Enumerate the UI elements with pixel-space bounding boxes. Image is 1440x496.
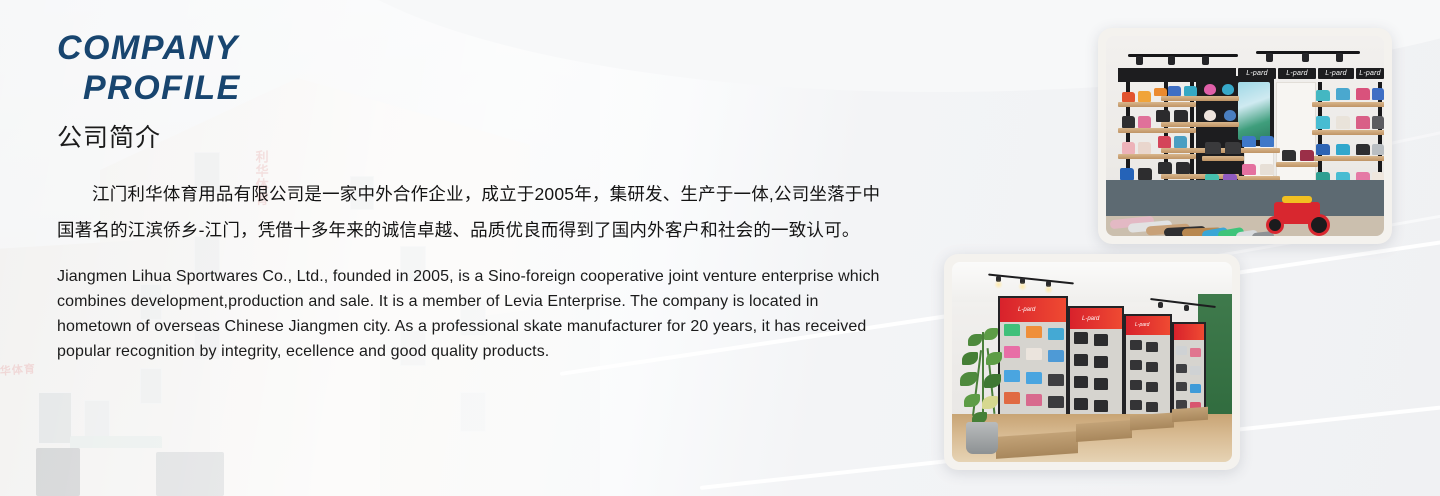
product-skate xyxy=(1260,164,1274,175)
brand-banner-l-pard: L-pard xyxy=(1070,308,1122,329)
product-skate xyxy=(1146,362,1158,372)
product-skate xyxy=(1176,364,1187,373)
product-skate xyxy=(1094,400,1108,412)
product-skate xyxy=(1242,136,1256,147)
page-title: COMPANY PROFILE xyxy=(57,28,902,108)
product-skate xyxy=(1225,142,1241,154)
brand-banner-l-pard: L-pard xyxy=(1000,298,1066,322)
product-skate xyxy=(1205,142,1221,154)
brand-banner-l-pard xyxy=(1174,324,1204,340)
product-skate xyxy=(1048,350,1064,362)
product-skate xyxy=(1158,162,1172,174)
product-skate xyxy=(1004,324,1020,336)
product-skate xyxy=(1260,136,1274,147)
product-skate xyxy=(1356,144,1370,155)
product-helmet xyxy=(1204,84,1216,95)
product-skate xyxy=(1122,92,1135,102)
product-skate xyxy=(1094,356,1108,368)
product-skate xyxy=(1138,168,1152,180)
product-skate xyxy=(1094,378,1108,390)
product-skate xyxy=(1026,326,1042,338)
product-skate xyxy=(1146,382,1158,392)
page-title-line-1: COMPANY xyxy=(57,29,239,67)
company-profile-banner: 利华体育 利华体育 COMPANY PROFILE 公司简介 江门利华体育用品有… xyxy=(0,0,1440,496)
product-skate xyxy=(1130,380,1142,390)
product-skate xyxy=(1156,110,1170,122)
product-skate xyxy=(1130,400,1142,410)
product-skate xyxy=(1356,116,1370,129)
product-skate xyxy=(1190,384,1201,393)
product-helmet xyxy=(1222,84,1234,95)
photo-showroom-pegboard-wall[interactable]: L-pard L-pard L-pard xyxy=(944,254,1240,470)
product-skate xyxy=(1004,346,1020,358)
brand-banner-l-pard: L-pard xyxy=(1126,316,1170,335)
product-skate xyxy=(1372,116,1384,129)
product-skate xyxy=(1174,136,1187,148)
product-skate xyxy=(1176,346,1187,355)
decor-potted-plant xyxy=(966,422,998,454)
product-skate xyxy=(1048,374,1064,386)
page-title-line-2: PROFILE xyxy=(57,68,902,108)
product-skate xyxy=(1372,88,1384,100)
product-skate xyxy=(1300,150,1314,161)
product-skate xyxy=(1190,366,1201,375)
product-skate xyxy=(1336,116,1350,129)
product-skate xyxy=(1154,88,1167,96)
product-skate xyxy=(1146,342,1158,352)
showroom-retail-wall-image: L-pard L-pard L-pard L-pard L-pard L-par… xyxy=(1106,36,1384,236)
showroom-pegboard-wall-image: L-pard L-pard L-pard xyxy=(952,262,1232,462)
profile-paragraph-cn: 江门利华体育用品有限公司是一家中外合作企业，成立于2005年，集研发、生产于一体… xyxy=(57,176,895,248)
product-skate xyxy=(1372,144,1384,155)
product-skate xyxy=(1336,144,1350,155)
product-helmet xyxy=(1204,110,1216,121)
product-skate xyxy=(1004,370,1020,382)
product-skate xyxy=(1026,372,1042,384)
product-skate xyxy=(1168,86,1181,96)
product-skate xyxy=(1074,332,1088,344)
product-skate xyxy=(1138,116,1151,128)
product-skate xyxy=(1048,328,1064,340)
photo-showroom-retail-wall[interactable]: L-pard L-pard L-pard L-pard L-pard L-par… xyxy=(1098,28,1392,244)
product-helmet xyxy=(1224,110,1236,121)
product-skate xyxy=(1174,110,1188,122)
product-skate xyxy=(1138,91,1151,102)
product-skate xyxy=(1138,142,1151,154)
product-skate xyxy=(1176,162,1190,174)
profile-text-column: COMPANY PROFILE 公司简介 江门利华体育用品有限公司是一家中外合作… xyxy=(57,28,902,364)
product-skate xyxy=(1336,88,1350,100)
product-skate xyxy=(1004,392,1020,404)
product-skate xyxy=(1074,398,1088,410)
product-skate xyxy=(1184,86,1197,96)
product-skate xyxy=(1120,168,1134,180)
page-subtitle-cn: 公司简介 xyxy=(57,118,902,154)
product-skate xyxy=(1122,142,1135,154)
profile-paragraph-en: Jiangmen Lihua Sportwares Co., Ltd., fou… xyxy=(57,264,893,364)
product-skate xyxy=(1074,376,1088,388)
product-skate xyxy=(1316,116,1330,129)
product-skate xyxy=(1316,90,1330,101)
product-skate xyxy=(1026,348,1042,360)
product-skate xyxy=(1190,348,1201,357)
product-skate xyxy=(1130,340,1142,350)
product-skate xyxy=(1282,150,1296,161)
product-skate xyxy=(1356,88,1370,100)
product-skate xyxy=(1146,402,1158,412)
brand-label-l-pard: L-pard xyxy=(1278,68,1316,79)
brand-label-l-pard: L-pard xyxy=(1356,68,1384,79)
product-skate xyxy=(1176,382,1187,391)
product-skate xyxy=(1048,396,1064,408)
brand-label-l-pard: L-pard xyxy=(1318,68,1354,79)
product-skate xyxy=(1242,164,1256,175)
product-skate xyxy=(1158,136,1171,148)
product-skate xyxy=(1316,144,1330,155)
product-skate xyxy=(1130,360,1142,370)
product-skate xyxy=(1026,394,1042,406)
product-skate xyxy=(1122,116,1135,128)
product-skate xyxy=(1074,354,1088,366)
product-skate xyxy=(1094,334,1108,346)
